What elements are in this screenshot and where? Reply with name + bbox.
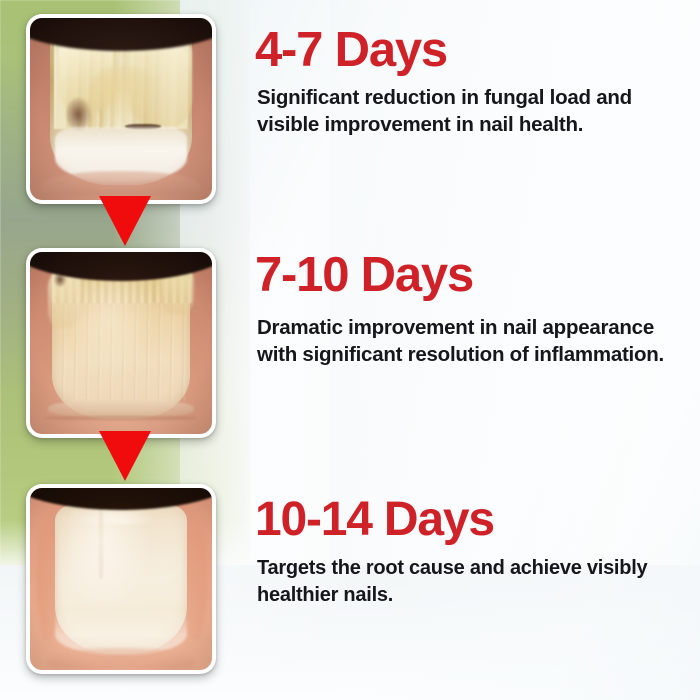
nail-treatment-timeline-poster: 4-7 Days Significant reduction in fungal… [0, 0, 700, 700]
down-triangle-arrow-icon [99, 431, 151, 481]
nail-photo-stage-1-image [30, 18, 212, 200]
photo-vignette [30, 488, 212, 670]
stage-3-description: Targets the root cause and achieve visib… [257, 555, 685, 608]
nail-photo-stage-2-image [30, 252, 212, 434]
stage-1-text-block: 4-7 Days Significant reduction in fungal… [255, 25, 685, 138]
stage-1-heading: 4-7 Days [255, 25, 685, 76]
nail-photo-stage-1 [26, 14, 216, 204]
down-triangle-arrow-icon [99, 196, 151, 246]
stage-3-text-block: 10-14 Days Targets the root cause and ac… [255, 495, 685, 608]
photo-vignette [30, 18, 212, 200]
stage-3-heading: 10-14 Days [255, 495, 685, 545]
stage-2-text-block: 7-10 Days Dramatic improvement in nail a… [255, 250, 685, 368]
nail-photo-stage-3-image [30, 488, 212, 670]
stage-1-description: Significant reduction in fungal load and… [257, 84, 685, 139]
photo-vignette [30, 252, 212, 434]
stage-2-heading: 7-10 Days [255, 250, 685, 301]
nail-photo-stage-2 [26, 248, 216, 438]
nail-photo-stage-3 [26, 484, 216, 674]
stage-2-description: Dramatic improvement in nail appearance … [257, 314, 685, 369]
